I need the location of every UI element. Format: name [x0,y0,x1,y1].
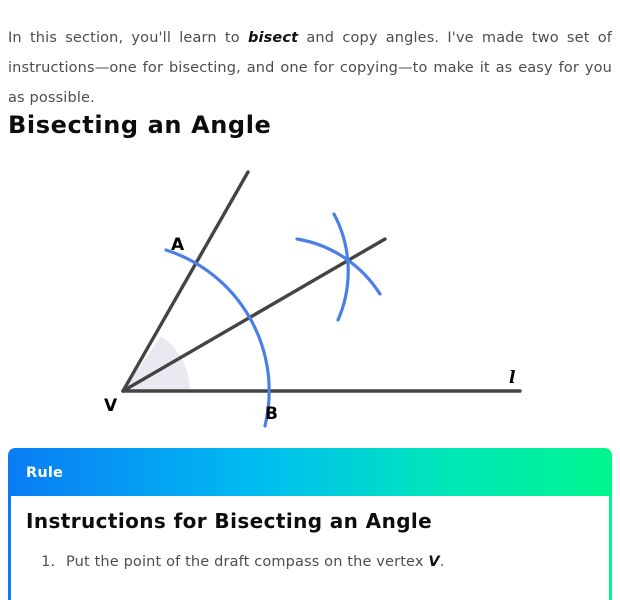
step-text-before: Put the point of the draft compass on th… [66,554,428,570]
ray-bisector [123,239,385,391]
label-point-a: A [171,235,185,255]
rule-callout: Rule Instructions for Bisecting an Angle… [8,448,612,600]
intro-text-before: In this section, you'll learn to [8,30,248,46]
rule-callout-body: Instructions for Bisecting an Angle Put … [8,496,612,600]
intro-paragraph: In this section, you'll learn to bisect … [8,23,612,113]
label-point-b: B [265,404,278,424]
rule-badge-label: Rule [26,465,63,481]
label-line-l: l [509,368,516,388]
angle-bisection-figure: A B V l [0,155,620,435]
rule-title: Instructions for Bisecting an Angle [26,509,596,533]
rule-callout-header: Rule [8,448,612,496]
rule-step-list: Put the point of the draft compass on th… [26,549,596,575]
emphasis-bisect: bisect [248,30,298,46]
section-heading: Bisecting an Angle [8,111,271,139]
angle-sector-fill [123,336,190,391]
ray-upper [123,172,248,391]
label-vertex-v: V [104,396,118,416]
list-item: Put the point of the draft compass on th… [60,549,596,575]
article-page: In this section, you'll learn to bisect … [0,0,620,600]
step-italic-vertex: V [428,554,439,570]
step-text-after: . [440,554,445,570]
